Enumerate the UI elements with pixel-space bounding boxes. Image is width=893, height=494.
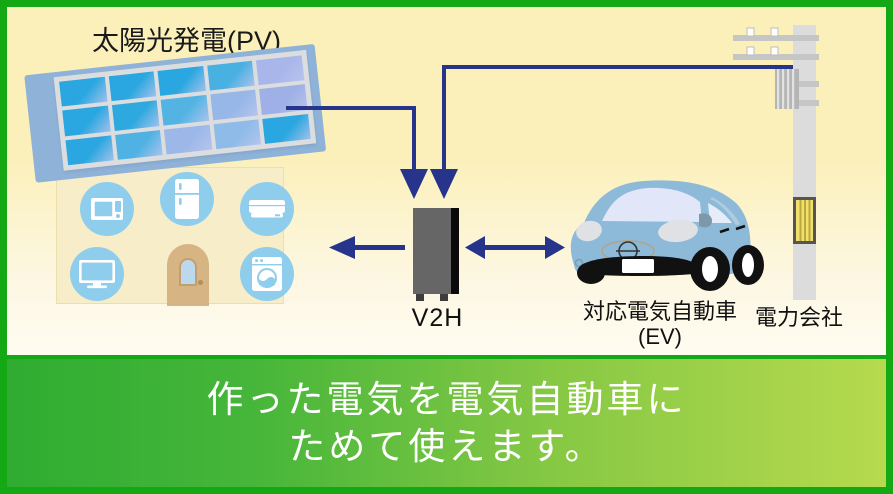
caption-banner: 作った電気を電気自動車に ためて使えます。 [7, 359, 886, 487]
solar-cell [62, 106, 110, 136]
v2h-unit [413, 208, 461, 294]
solar-cell [164, 124, 212, 154]
pole-hazard-sign [793, 197, 816, 244]
pole-insulator-4 [771, 47, 778, 55]
television-icon [70, 247, 124, 301]
pole-shaft [793, 25, 816, 300]
air-conditioner-icon [240, 182, 294, 236]
washing-machine-icon [240, 247, 294, 301]
front-door [167, 244, 209, 306]
infographic-frame: 太陽光発電(PV) [0, 0, 893, 494]
v2h-side-panel [451, 208, 459, 294]
solar-cell [210, 90, 258, 120]
solar-cell [115, 130, 163, 160]
solar-cell [256, 55, 304, 85]
solar-cell [259, 85, 307, 115]
v2h-front-panel [413, 208, 451, 294]
pole-transformer [775, 69, 799, 109]
illustration-stage: 太陽光発電(PV) [7, 7, 886, 355]
door-window-icon [179, 258, 197, 286]
pole-insulator-2 [771, 28, 778, 36]
solar-cell [213, 119, 261, 149]
ev-label-line2: (EV) [560, 325, 760, 350]
grid-company-label: 電力会社 [755, 300, 886, 332]
solar-cell [207, 61, 255, 91]
arrow-v2h-to-ev [465, 236, 565, 259]
door-knob-icon [198, 280, 203, 285]
arrowhead-pv-to-v2h [400, 169, 428, 199]
pole-insulator-3 [747, 47, 754, 55]
v2h-foot-right [440, 294, 448, 301]
ev-license-plate [622, 259, 654, 273]
solar-cell [65, 135, 113, 165]
arrow-v2h-to-house [329, 236, 405, 259]
ev-label: 対応電気自動車 (EV) [560, 300, 760, 349]
ev-wheel-left [577, 262, 605, 284]
v2h-foot-left [416, 294, 424, 301]
microwave-icon [80, 182, 134, 236]
solar-cell [112, 101, 160, 131]
solar-cell [108, 71, 156, 101]
utility-pole [719, 7, 886, 307]
arrowhead-grid-to-v2h [430, 169, 458, 199]
solar-cell [158, 66, 206, 96]
refrigerator-icon [160, 172, 214, 226]
solar-cell [59, 77, 107, 107]
solar-cell [161, 95, 209, 125]
ev-hubcap-front [702, 256, 718, 282]
caption-line-2: ためて使えます。 [288, 423, 604, 470]
v2h-label: V2H [375, 304, 500, 333]
caption-line-1: 作った電気を電気自動車に [207, 376, 687, 423]
pole-insulator-1 [747, 28, 754, 36]
solar-cell [263, 114, 311, 144]
